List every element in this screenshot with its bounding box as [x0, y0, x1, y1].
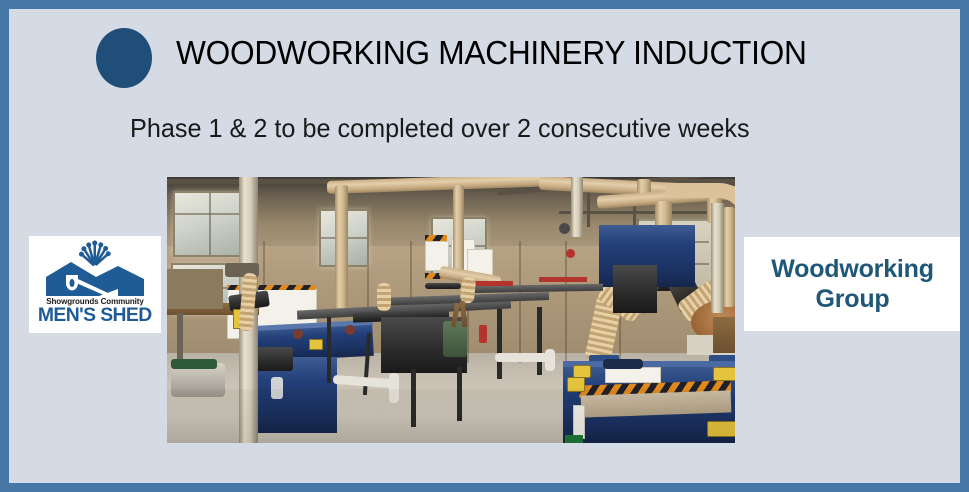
- page-subtitle: Phase 1 & 2 to be completed over 2 conse…: [130, 113, 750, 144]
- logo-name-line: MEN'S SHED: [38, 306, 152, 325]
- title-bullet-circle-icon: [96, 28, 152, 88]
- workshop-photo: [167, 177, 735, 443]
- slide-header: WOODWORKING MACHINERY INDUCTION Phase 1 …: [9, 9, 960, 101]
- slide-canvas: WOODWORKING MACHINERY INDUCTION Phase 1 …: [0, 0, 969, 492]
- page-title: WOODWORKING MACHINERY INDUCTION: [176, 34, 807, 72]
- woodworking-group-label-line2: Group: [771, 284, 934, 315]
- shed-mark-icon: [43, 240, 147, 296]
- woodworking-group-label: Woodworking Group: [771, 254, 934, 315]
- woodworking-group-label-line1: Woodworking: [771, 254, 934, 285]
- mens-shed-logo-card: Showgrounds Community MEN'S SHED: [29, 236, 161, 333]
- woodworking-group-card: Woodworking Group: [744, 237, 961, 331]
